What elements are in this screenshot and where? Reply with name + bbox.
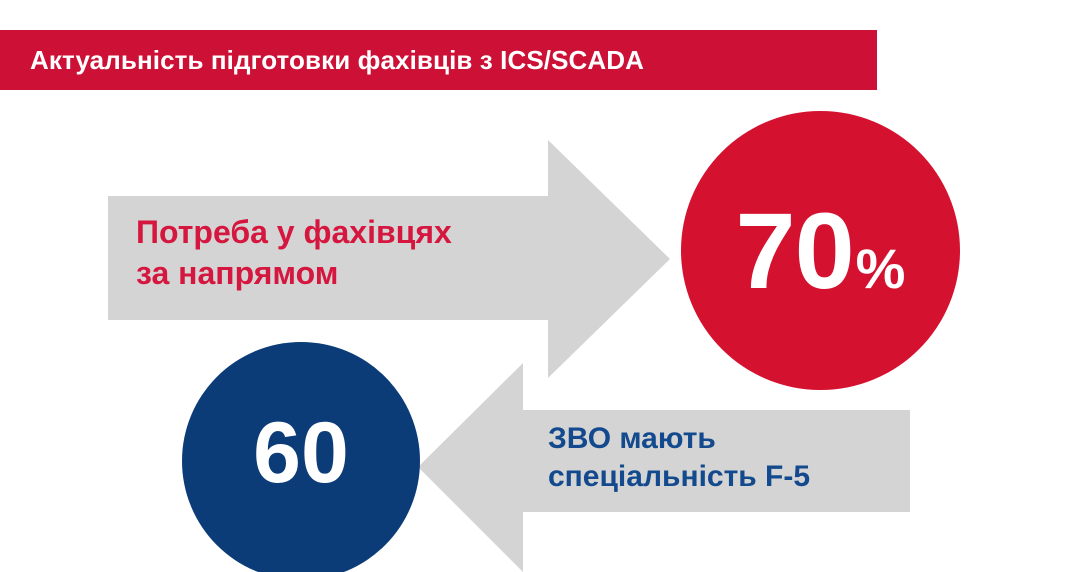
top-flow-label-line2: за напрямом: [136, 253, 536, 294]
metric-value-70: 70: [736, 197, 854, 305]
bottom-flow-label: ЗВО мають спеціальність F-5: [548, 420, 908, 497]
bottom-flow-label-line1: ЗВО мають: [548, 420, 908, 458]
top-flow-label-line1: Потреба у фахівцях: [136, 212, 536, 253]
bottom-flow-label-line2: спеціальність F-5: [548, 458, 908, 496]
top-flow-label: Потреба у фахівцях за напрямом: [136, 212, 536, 294]
metric-unit-percent: %: [856, 241, 906, 297]
metric-circle-count: 60: [182, 342, 420, 572]
metric-value-group: 70 %: [736, 197, 906, 305]
metric-value-60: 60: [253, 410, 349, 496]
metric-circle-percentage: 70 %: [681, 111, 960, 390]
infographic-slide: Актуальність підготовки фахівців з ICS/S…: [0, 0, 1086, 572]
